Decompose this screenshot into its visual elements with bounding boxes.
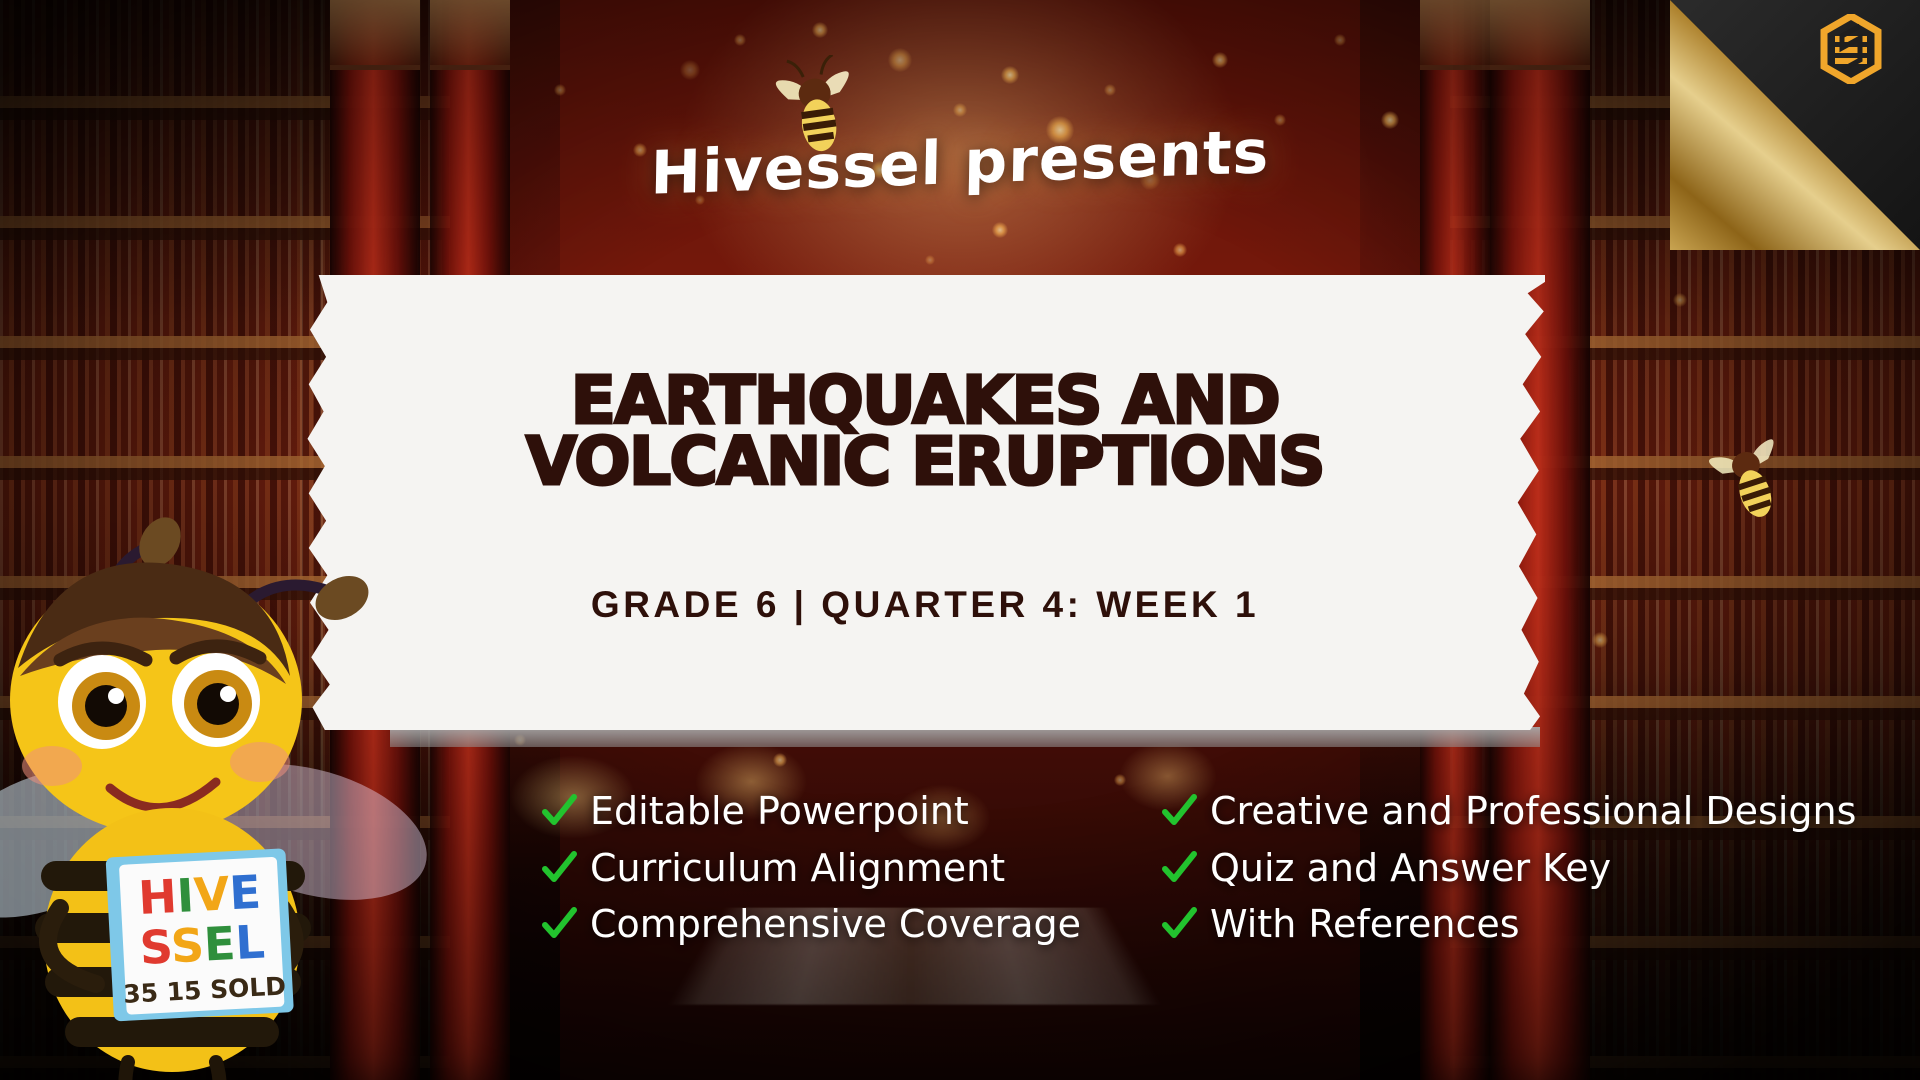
- feature-list: Editable PowerpointCreative and Professi…: [540, 790, 1900, 946]
- grade-quarter-week-subtitle: GRADE 6 | QUARTER 4: WEEK 1: [591, 584, 1259, 626]
- green-check-icon: [1160, 905, 1198, 943]
- feature-label: With References: [1210, 903, 1520, 946]
- feature-item: Editable Powerpoint: [540, 790, 1160, 833]
- hexagon-hive-logo-icon[interactable]: [1820, 14, 1882, 84]
- feature-label: Curriculum Alignment: [590, 847, 1005, 890]
- feature-item: With References: [1160, 903, 1900, 946]
- feature-label: Quiz and Answer Key: [1210, 847, 1611, 890]
- bee-mascot: HIVE SSEL 35 15 SOLD: [0, 470, 520, 1080]
- card-drop-shadow-band: [390, 727, 1540, 747]
- page-title: EARTHQUAKES AND VOLCANIC ERUPTIONS: [526, 371, 1324, 492]
- feature-item: Creative and Professional Designs: [1160, 790, 1900, 833]
- feature-label: Comprehensive Coverage: [590, 903, 1081, 946]
- mascot-book-line-2: SSEL: [138, 914, 266, 974]
- green-check-icon: [540, 905, 578, 943]
- green-check-icon: [540, 792, 578, 830]
- presentation-slide: Hivessel presents EARTHQUAKES AND VOLCAN…: [0, 0, 1920, 1080]
- title-line-2: VOLCANIC ERUPTIONS: [526, 432, 1324, 493]
- presents-text: Hivessel presents: [650, 117, 1270, 209]
- feature-item: Quiz and Answer Key: [1160, 847, 1900, 890]
- green-check-icon: [1160, 849, 1198, 887]
- green-check-icon: [540, 849, 578, 887]
- feature-item: Curriculum Alignment: [540, 847, 1160, 890]
- bee-icon: [760, 55, 880, 165]
- feature-item: Comprehensive Coverage: [540, 903, 1160, 946]
- feature-label: Editable Powerpoint: [590, 790, 969, 833]
- green-check-icon: [1160, 792, 1198, 830]
- presents-headline: Hivessel presents: [0, 130, 1920, 200]
- feature-label: Creative and Professional Designs: [1210, 790, 1856, 833]
